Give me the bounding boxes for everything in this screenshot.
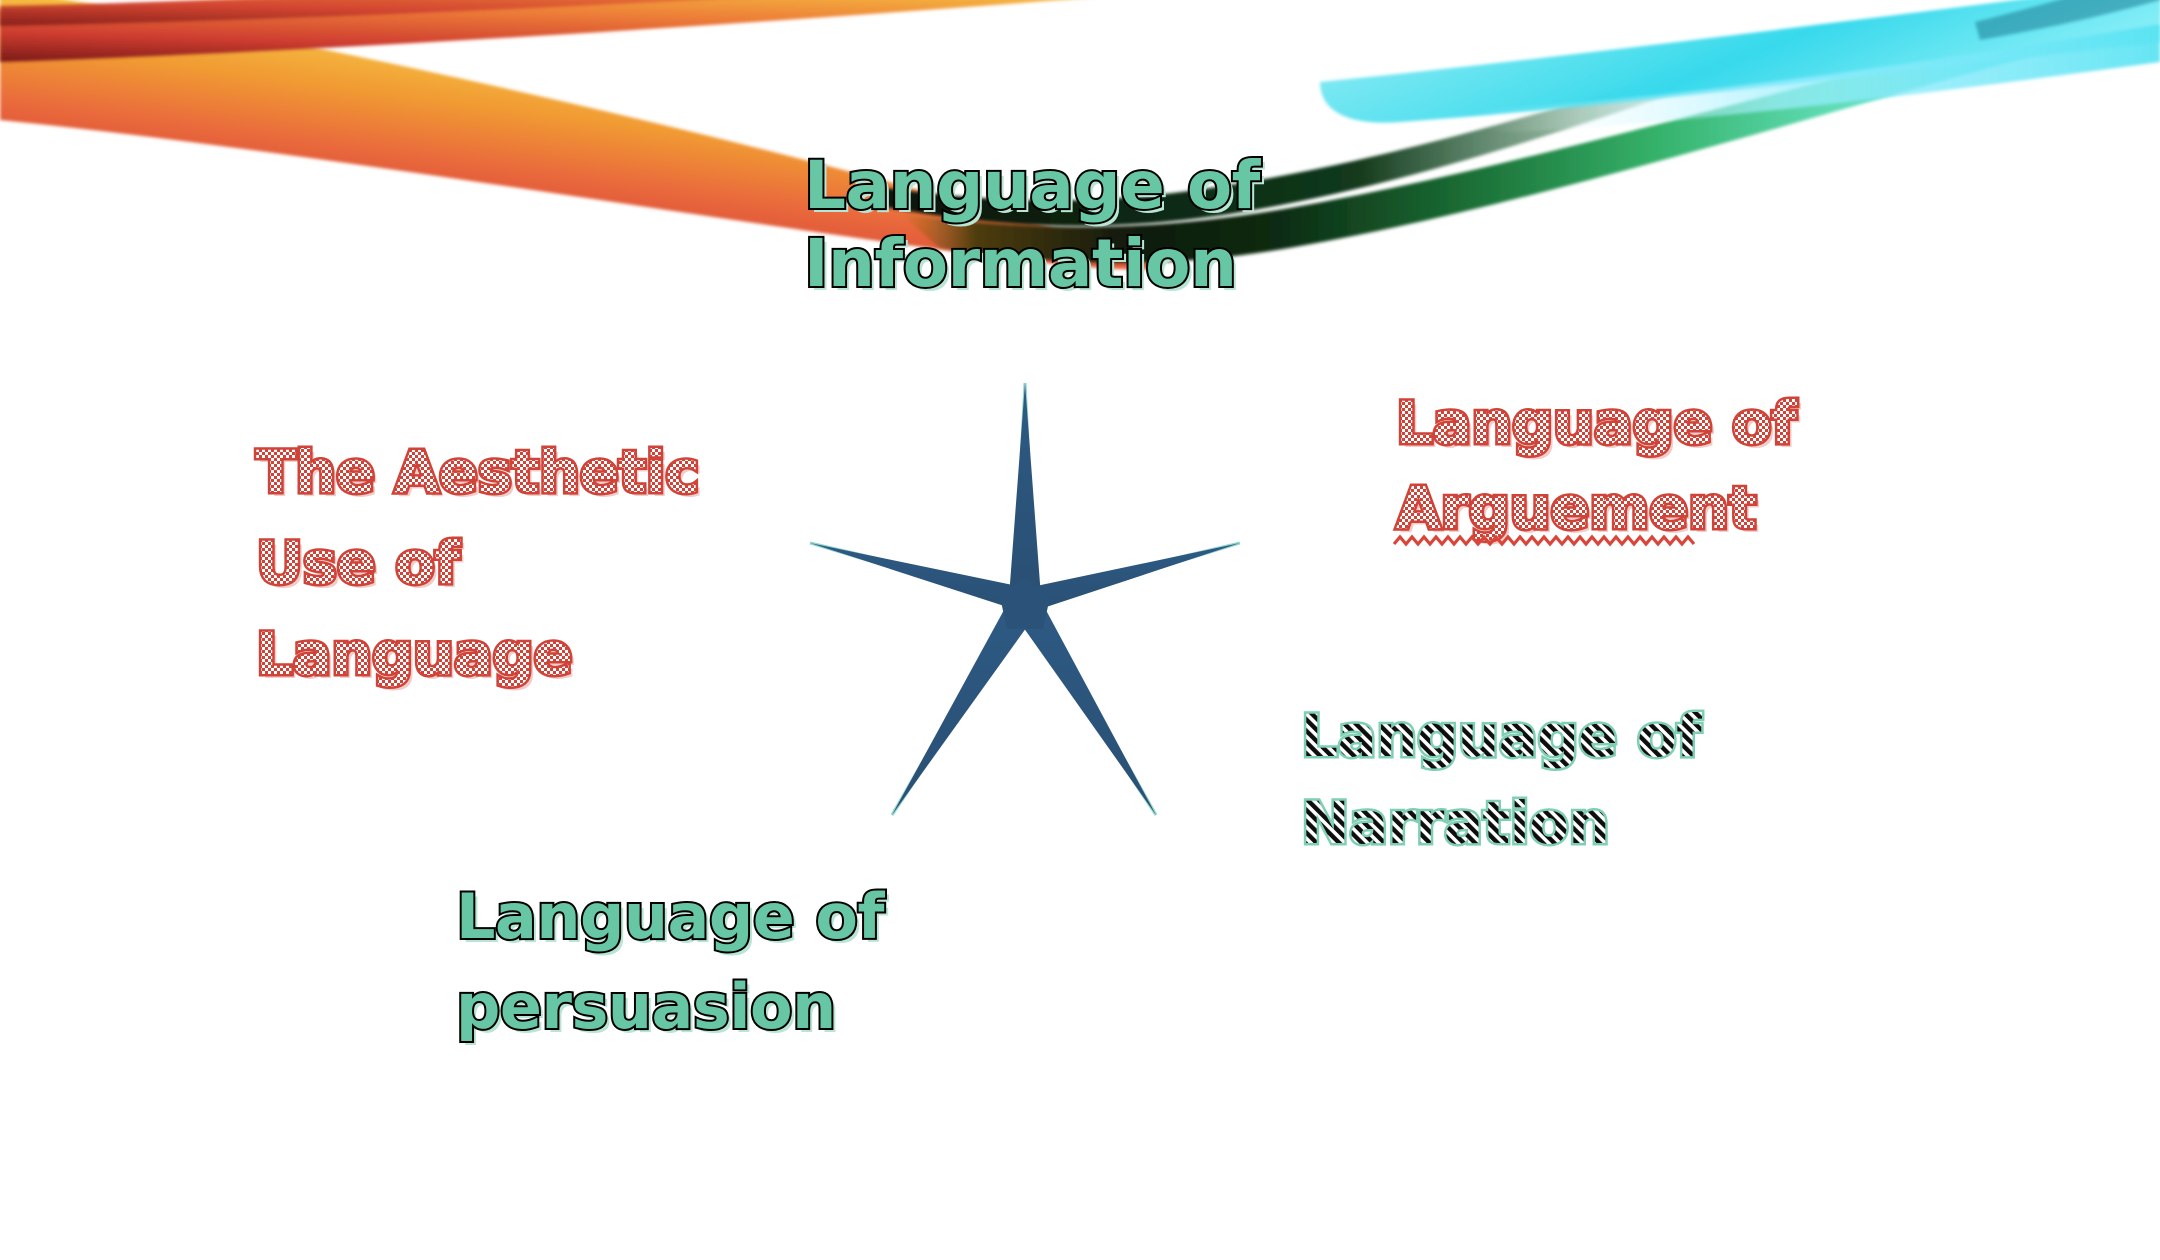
- label-language-of-persuasion[interactable]: Language of Language of persuasion persu…: [450, 880, 970, 1070]
- label-the-aesthetic-use-of-language[interactable]: The Aesthetic The Aesthetic Use of Use o…: [250, 440, 810, 700]
- label-line-2: persuasion: [456, 970, 836, 1043]
- label-line-1: Language of: [804, 147, 1262, 224]
- label-line-2: Information: [804, 225, 1236, 302]
- slide-canvas: Language of Language of Information Info…: [0, 0, 2160, 1260]
- label-line-1: Language of: [1396, 389, 1797, 457]
- five-point-star: [800, 345, 1250, 830]
- label-language-of-arguement[interactable]: Language of Language of Arguement Arguem…: [1390, 390, 1930, 590]
- label-line-2: Arguement: [1396, 474, 1756, 542]
- label-line-1: Language of: [456, 880, 885, 953]
- label-line-3: Language: [256, 620, 572, 688]
- label-language-of-narration[interactable]: Language of Narration: [1295, 700, 1815, 890]
- label-language-of-information[interactable]: Language of Language of Information Info…: [800, 150, 1320, 320]
- label-line-2: Narration: [1301, 789, 1609, 857]
- label-line-1: The Aesthetic: [256, 438, 699, 506]
- label-line-1: Language of: [1301, 702, 1702, 770]
- label-line-2: Use of: [256, 529, 460, 597]
